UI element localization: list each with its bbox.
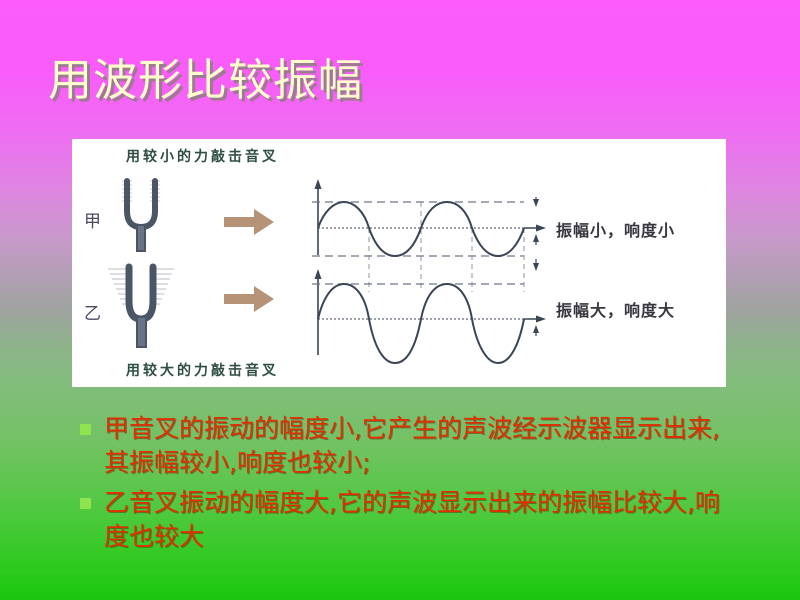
arrow-right-icon-lower: [224, 286, 274, 312]
bullet-square-icon: [80, 498, 91, 509]
waveform-graph-small: [312, 179, 546, 292]
list-item: 乙音叉振动的幅度大,它的声波显示出来的振幅比较大,响度也较大: [80, 486, 760, 554]
tuning-fork-icon-lower: [108, 267, 174, 347]
list-item: 甲音叉的振动的幅度小,它产生的声波经示波器显示出来,其振幅较小,响度也较小;: [80, 412, 760, 480]
wave-label-large-amplitude: 振幅大，响度大: [556, 297, 675, 321]
page-title: 用波形比较振幅: [48, 56, 363, 106]
figure-panel: 用较小的力敲击音叉 甲 乙: [72, 139, 726, 387]
amplitude-indicator-large: [533, 259, 539, 336]
bullet-text-2: 乙音叉振动的幅度大,它的声波显示出来的振幅比较大,响度也较大: [104, 486, 734, 554]
bullet-square-icon: [80, 424, 91, 435]
figure-diagram: [72, 139, 726, 387]
waveform-graph-large: [312, 269, 546, 363]
tuning-fork-icon-upper: [122, 181, 160, 251]
bullet-text-1: 甲音叉的振动的幅度小,它产生的声波经示波器显示出来,其振幅较小,响度也较小;: [104, 412, 734, 480]
amplitude-indicator-small: [533, 197, 539, 245]
wave-label-small-amplitude: 振幅小，响度小: [556, 217, 675, 241]
bullet-list: 甲音叉的振动的幅度小,它产生的声波经示波器显示出来,其振幅较小,响度也较小; 乙…: [80, 412, 760, 560]
figure-caption-bottom: 用较大的力敲击音叉: [126, 360, 279, 380]
arrow-right-icon-upper: [224, 209, 274, 235]
slide-canvas: 用波形比较振幅 用较小的力敲击音叉 甲 乙: [0, 0, 800, 600]
